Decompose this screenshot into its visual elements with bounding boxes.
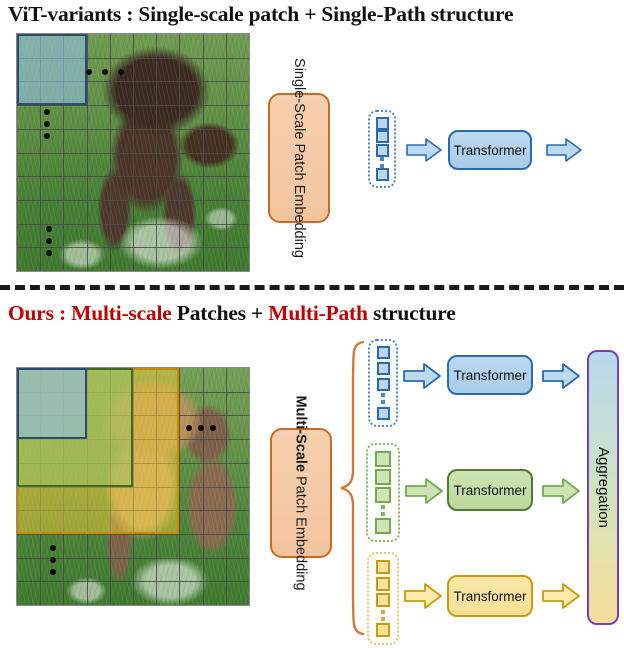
token-square: [376, 144, 389, 157]
single-scale-image-grid: [16, 33, 250, 272]
title-multipath: Multi-Path: [268, 301, 373, 325]
token-square: [375, 487, 391, 503]
ellipsis-dot-v: [44, 121, 50, 127]
page-title-bottom: Ours : Multi-scale Patches + Multi-Path …: [8, 301, 456, 326]
ellipsis-dot-h: [210, 425, 216, 431]
ellipsis-dot-v: [44, 109, 50, 115]
token-ellipsis: [380, 157, 384, 168]
token-square: [375, 469, 391, 485]
ellipsis-dot-v: [50, 569, 56, 575]
aggregation-box[interactable]: Aggregation: [587, 350, 619, 625]
token-square: [376, 130, 389, 143]
page-title-top: ViT-variants : Single-scale patch + Sing…: [8, 2, 513, 27]
token-square: [377, 407, 390, 420]
token-square: [376, 117, 389, 130]
transformer-box-green[interactable]: Transformer: [447, 469, 533, 511]
ellipsis-dot-v: [46, 238, 52, 244]
aggregation-label: Aggregation: [595, 447, 612, 528]
arrow-tokens-to-transformer-blue: [403, 363, 441, 389]
grid-line-vertical: [179, 34, 180, 271]
token-square: [377, 378, 390, 391]
ellipsis-dot-v: [44, 133, 50, 139]
token-column-blue-path: [368, 339, 398, 427]
grid-line-vertical: [179, 368, 180, 605]
token-column-blue-top: [368, 110, 396, 188]
grid-line-vertical: [226, 368, 227, 605]
title-multiscale: Multi-scale: [71, 301, 177, 325]
token-column-green-path: [366, 443, 400, 542]
transformer-label: Transformer: [453, 143, 526, 158]
grid-line-vertical: [133, 34, 134, 271]
token-square: [376, 577, 390, 591]
token-square: [376, 560, 390, 574]
transformer-label: Transformer: [453, 368, 526, 383]
embedding-line2-bottom: Patch Embedding: [293, 476, 309, 590]
token-ellipsis: [381, 610, 385, 621]
transformer-box-blue[interactable]: Transformer: [447, 355, 533, 395]
token-square: [375, 518, 391, 534]
embedding-line1-bottom: Multi-Scale: [293, 395, 309, 472]
arrow-tokens-to-transformer-top: [406, 138, 442, 162]
ellipsis-dot-h: [86, 69, 92, 75]
arrow-transformer-out-yellow: [542, 583, 580, 609]
multi-path-brace: [339, 340, 365, 641]
token-square: [376, 593, 390, 607]
ellipsis-dot-h: [186, 425, 192, 431]
ellipsis-dot-v: [46, 250, 52, 256]
patch-overlay-blue-bottom: [17, 368, 87, 439]
token-square: [377, 362, 390, 375]
ellipsis-dot-h: [102, 69, 108, 75]
single-scale-patch-embedding-box[interactable]: Single-Scale Patch Embedding: [268, 93, 330, 223]
arrow-transformer-out-top: [546, 138, 582, 162]
grid-line-vertical: [110, 34, 111, 271]
token-ellipsis: [381, 505, 385, 516]
transformer-box-yellow[interactable]: Transformer: [447, 575, 533, 617]
title-ours: Ours :: [8, 301, 71, 325]
token-square: [377, 346, 390, 359]
token-square: [375, 451, 391, 467]
arrow-transformer-out-blue: [542, 363, 580, 389]
arrow-tokens-to-transformer-yellow: [404, 583, 442, 609]
transformer-box-top[interactable]: Transformer: [448, 130, 532, 170]
transformer-label: Transformer: [453, 589, 526, 604]
grid-line-vertical: [156, 34, 157, 271]
embedding-label-top: Single-Scale Patch Embedding: [291, 58, 307, 258]
token-square: [376, 168, 389, 181]
arrow-transformer-out-green: [542, 478, 580, 504]
title-structure: structure: [373, 301, 456, 325]
embedding-line1-top: Single-Scale: [291, 58, 307, 139]
ellipsis-dot-v: [46, 226, 52, 232]
transformer-label: Transformer: [453, 483, 526, 498]
token-square: [376, 623, 390, 637]
grid-line-vertical: [203, 34, 204, 271]
section-divider: [0, 285, 624, 290]
title-top-text: ViT-variants : Single-scale patch + Sing…: [8, 2, 513, 26]
token-ellipsis: [381, 393, 385, 404]
grid-line-vertical: [203, 368, 204, 605]
ellipsis-dot-h: [198, 425, 204, 431]
patch-overlay-blue-top: [17, 34, 87, 105]
embedding-label-bottom: Multi-Scale Patch Embedding: [293, 395, 309, 590]
ellipsis-dot-h: [118, 69, 124, 75]
ellipsis-dot-v: [50, 557, 56, 563]
arrow-tokens-to-transformer-green: [405, 478, 443, 504]
multi-scale-patch-embedding-box[interactable]: Multi-Scale Patch Embedding: [270, 428, 332, 558]
embedding-line2-top: Patch Embedding: [291, 143, 307, 257]
title-patches: Patches +: [177, 301, 268, 325]
token-column-yellow-path: [367, 552, 399, 645]
grid-line-vertical: [226, 34, 227, 271]
ellipsis-dot-v: [50, 545, 56, 551]
